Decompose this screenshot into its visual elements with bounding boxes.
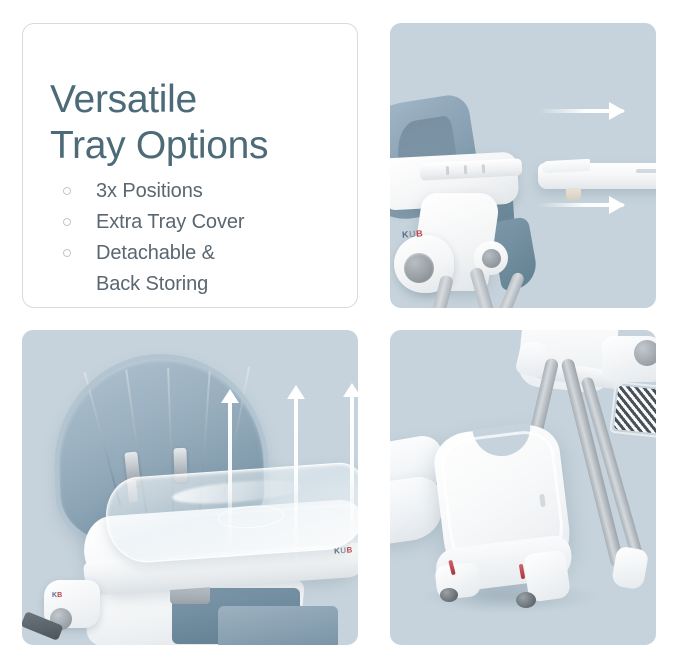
seat-and-tray-cover-illustration: KUB KB bbox=[22, 330, 358, 645]
footrest-lower bbox=[218, 606, 338, 645]
storage-basket-frame bbox=[609, 381, 656, 439]
rail-notch bbox=[464, 165, 467, 174]
list-item: Detachable & Back Storing bbox=[63, 238, 353, 300]
feature-label: 3x Positions bbox=[96, 180, 203, 202]
knuckle-dial-icon bbox=[482, 249, 501, 268]
feature-label: Detachable & bbox=[96, 242, 215, 264]
caster-wheel bbox=[516, 592, 536, 608]
arrow-up-icon bbox=[350, 396, 354, 562]
infographic-board: Versatile Tray Options 3x Positions Extr… bbox=[0, 0, 679, 669]
caster-wheel bbox=[440, 588, 458, 602]
adjust-dial-icon bbox=[404, 253, 434, 283]
rail-notch bbox=[482, 164, 485, 173]
arrow-up-icon bbox=[228, 402, 232, 552]
photo-panel-tray-cover: KUB KB bbox=[22, 330, 358, 645]
bullet-circle-icon bbox=[63, 187, 71, 195]
title-line-2: Tray Options bbox=[50, 123, 340, 169]
list-item: Extra Tray Cover bbox=[63, 207, 353, 238]
rail-notch bbox=[446, 166, 449, 175]
recline-dial-icon bbox=[634, 340, 656, 366]
feature-list: 3x Positions Extra Tray Cover Detachable… bbox=[63, 176, 353, 300]
arrow-right-icon bbox=[538, 109, 624, 113]
chair-foot bbox=[611, 546, 649, 591]
arrow-up-icon bbox=[294, 398, 298, 564]
brand-logo: KUB bbox=[402, 228, 424, 239]
photo-panel-back-storing bbox=[390, 330, 656, 645]
bullet-circle-icon bbox=[63, 218, 71, 226]
folded-chair-with-stored-tray-illustration bbox=[390, 330, 656, 645]
detached-tray-lip bbox=[542, 159, 590, 174]
detached-tray-tab bbox=[566, 188, 581, 200]
list-item: 3x Positions bbox=[63, 176, 353, 207]
text-panel: Versatile Tray Options 3x Positions Extr… bbox=[22, 23, 358, 308]
title-line-1: Versatile bbox=[50, 77, 340, 123]
page-title: Versatile Tray Options bbox=[50, 77, 340, 169]
feature-label: Extra Tray Cover bbox=[96, 211, 244, 233]
bullet-circle-icon bbox=[63, 249, 71, 257]
photo-panel-tray-detach: KUB bbox=[390, 23, 656, 308]
feature-label-continued: Back Storing bbox=[96, 269, 353, 300]
high-chair-side-view-illustration: KUB bbox=[390, 23, 656, 308]
arrow-right-icon bbox=[538, 203, 624, 207]
brand-logo-small: KB bbox=[52, 592, 62, 599]
detached-tray-slot bbox=[636, 169, 656, 173]
